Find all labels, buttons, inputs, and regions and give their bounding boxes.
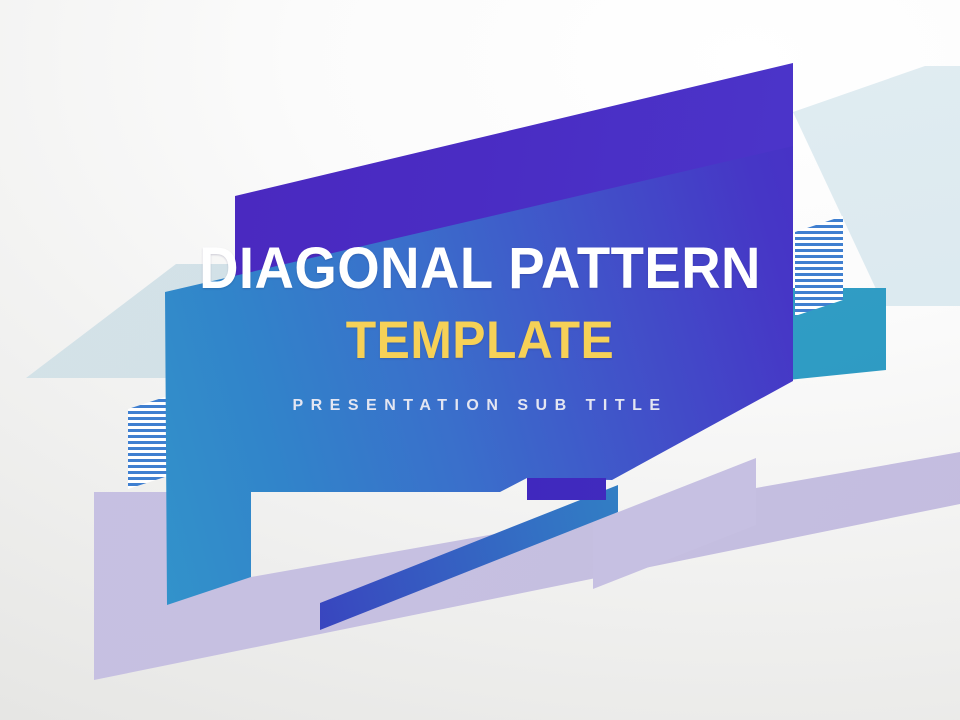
- slide-subtitle: PRESENTATION SUB TITLE: [0, 396, 960, 416]
- slide-title-accent: TEMPLATE: [29, 312, 931, 370]
- slide-title-primary: DIAGONAL PATTERN: [29, 238, 931, 300]
- presentation-slide: DIAGONAL PATTERN TEMPLATE PRESENTATION S…: [0, 0, 960, 720]
